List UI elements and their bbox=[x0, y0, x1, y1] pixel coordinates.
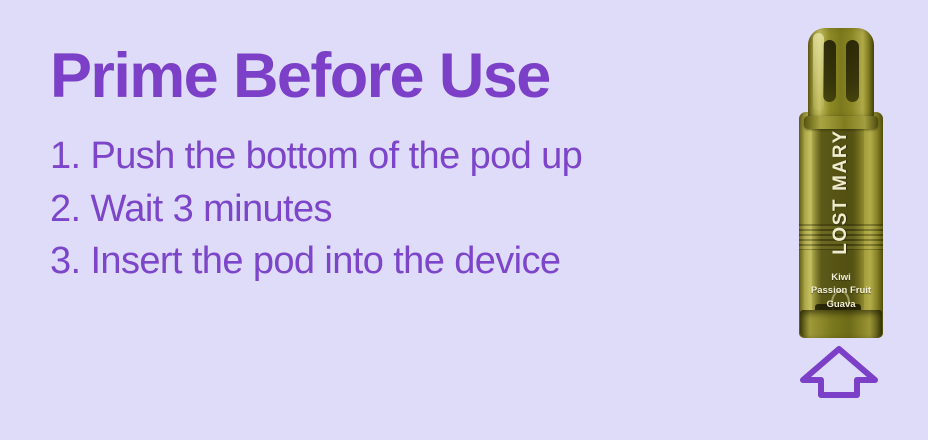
pod-flavour-line-2: Passion Fruit bbox=[803, 284, 879, 297]
mouthpiece-slot-left bbox=[823, 40, 836, 102]
pod-brand-label: LOST MARY bbox=[830, 117, 852, 267]
list-item: 1. Push the bottom of the pod up bbox=[50, 130, 750, 182]
prime-before-use-banner: Prime Before Use 1. Push the bottom of t… bbox=[0, 0, 928, 440]
pod-base bbox=[800, 310, 882, 338]
arrow-up-path bbox=[803, 349, 875, 395]
pod-flavour-line-1: Kiwi bbox=[803, 271, 879, 284]
pod-flavour-line-3: Guava bbox=[803, 298, 879, 311]
arrow-up-icon bbox=[797, 344, 881, 400]
pod-flavour-label: Kiwi Passion Fruit Guava bbox=[803, 271, 879, 311]
instructions-block: Prime Before Use 1. Push the bottom of t… bbox=[50, 44, 750, 288]
pod-mouthpiece bbox=[808, 28, 874, 124]
list-item: 3. Insert the pod into the device bbox=[50, 235, 750, 287]
mouthpiece-highlight bbox=[813, 33, 824, 111]
mouthpiece-slot-right bbox=[846, 40, 859, 102]
list-item: 2. Wait 3 minutes bbox=[50, 183, 750, 235]
vape-pod-image: LOST MARY Kiwi Passion Fruit Guava bbox=[795, 28, 887, 338]
steps-list: 1. Push the bottom of the pod up 2. Wait… bbox=[50, 130, 750, 287]
page-title: Prime Before Use bbox=[50, 44, 750, 108]
